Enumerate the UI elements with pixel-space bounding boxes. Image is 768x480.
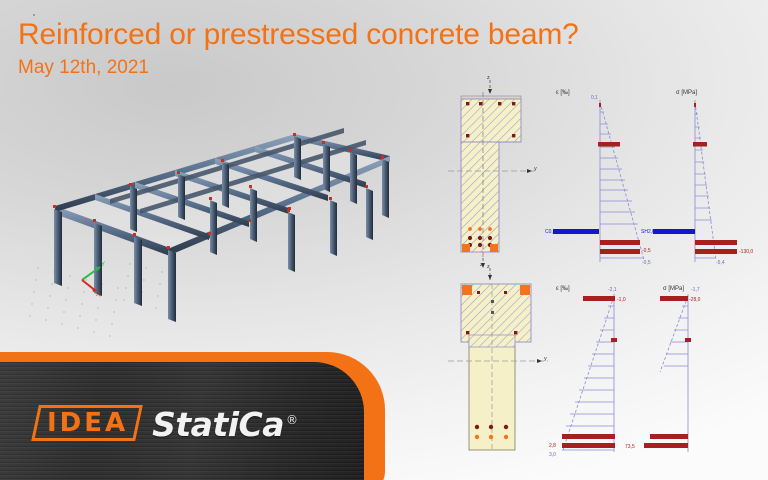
upper-stress-axis-label: σ [MPa]	[676, 90, 697, 96]
lower-strain-bottom-value: 3,0	[549, 452, 556, 458]
cross-section-diagram-panel[interactable]: z y	[448, 72, 768, 472]
upper-strain-bar-3	[600, 249, 640, 254]
presentation-slide: Reinforced or prestressed concrete beam?…	[0, 0, 768, 480]
lower-stress-diagram[interactable]: σ [MPa] -1,7 -28,0 73,5	[625, 286, 701, 452]
upper-strain-bar-value: -0,5	[642, 248, 651, 254]
decorative-dot	[33, 14, 35, 16]
lower-stress-bar-b2	[644, 443, 688, 448]
axis-label-x: X	[96, 292, 100, 298]
upper-cross-section[interactable]: z y	[448, 75, 538, 268]
lower-strain-axis-label: ε [‰]	[556, 286, 570, 292]
footer-banner: IDEA StatiCa®	[0, 352, 385, 480]
upper-section-axis-z-label: z	[487, 75, 490, 81]
lower-section-axis-y-label: y	[544, 356, 547, 362]
lower-stress-bar-value-bottom: 73,5	[625, 444, 635, 450]
lower-stress-top-value: -1,7	[691, 287, 700, 293]
logo-statica-wordmark: StatiCa®	[152, 404, 297, 441]
lower-stress-bar-value-top: -28,0	[689, 297, 701, 303]
lower-strain-top-value: -2,1	[608, 287, 617, 293]
upper-stress-blue-label: SH2,0	[641, 229, 655, 235]
logo-statica-text: StatiCa	[152, 405, 284, 444]
upper-stress-blue-bar	[653, 229, 695, 234]
upper-strain-top-value: 0,1	[591, 95, 598, 101]
upper-stress-diagram[interactable]: σ [MPa]	[641, 90, 753, 266]
lower-stress-bar-b1	[650, 434, 688, 439]
upper-strain-axis-label: ε [‰]	[556, 90, 570, 96]
title-block: Reinforced or prestressed concrete beam?…	[18, 18, 758, 79]
lower-strain-bar-top	[583, 296, 615, 301]
upper-stress-bar-3	[695, 249, 737, 254]
lower-section-axis-z-label: z	[487, 264, 490, 270]
upper-stress-bar-value: -130,0	[739, 249, 753, 255]
upper-strain-diagram[interactable]: ε [‰]	[545, 90, 651, 266]
lower-stress-bar-mid	[685, 338, 691, 342]
upper-section-bottom-rebar	[468, 227, 492, 247]
logo-idea-mark: IDEA	[31, 405, 143, 441]
upper-strain-bar-1	[598, 142, 620, 147]
page-title: Reinforced or prestressed concrete beam?	[18, 18, 758, 52]
upper-stress-bar-1	[693, 142, 707, 147]
brand-logo[interactable]: IDEA StatiCa®	[35, 404, 298, 441]
lower-strain-diagram[interactable]: ε [‰]	[549, 286, 626, 458]
lower-stress-bar-top	[660, 296, 688, 301]
lower-strain-bar-b1	[562, 434, 615, 439]
upper-strain-blue-bar	[553, 229, 599, 234]
upper-strain-bottom-value: -0,5	[642, 260, 651, 266]
lower-strain-bar-value-top: -1,0	[617, 297, 626, 303]
lower-strain-bar-value-bottom: 2,8	[549, 443, 556, 449]
upper-stress-bar-2	[695, 240, 737, 245]
structural-3d-model[interactable]: Y X	[10, 100, 450, 345]
upper-strain-blue-label: C0,0	[545, 229, 556, 235]
lower-stress-axis-label: σ [MPa]	[663, 286, 684, 292]
lower-strain-bar-b2	[562, 443, 615, 448]
upper-stress-bottom-value: -5,4	[716, 260, 725, 266]
upper-section-axis-z-bottom: z	[480, 262, 483, 268]
lower-cross-section[interactable]: z y	[448, 264, 548, 450]
upper-strain-bar-2	[600, 240, 640, 245]
axis-label-y: Y	[101, 262, 105, 268]
lower-strain-bar-mid	[611, 338, 617, 342]
logo-idea-text: IDEA	[47, 410, 128, 436]
footer-banner-inner: IDEA StatiCa®	[0, 362, 364, 480]
registered-trademark-icon: ®	[286, 413, 298, 427]
upper-section-axis-y-label: y	[534, 166, 537, 172]
